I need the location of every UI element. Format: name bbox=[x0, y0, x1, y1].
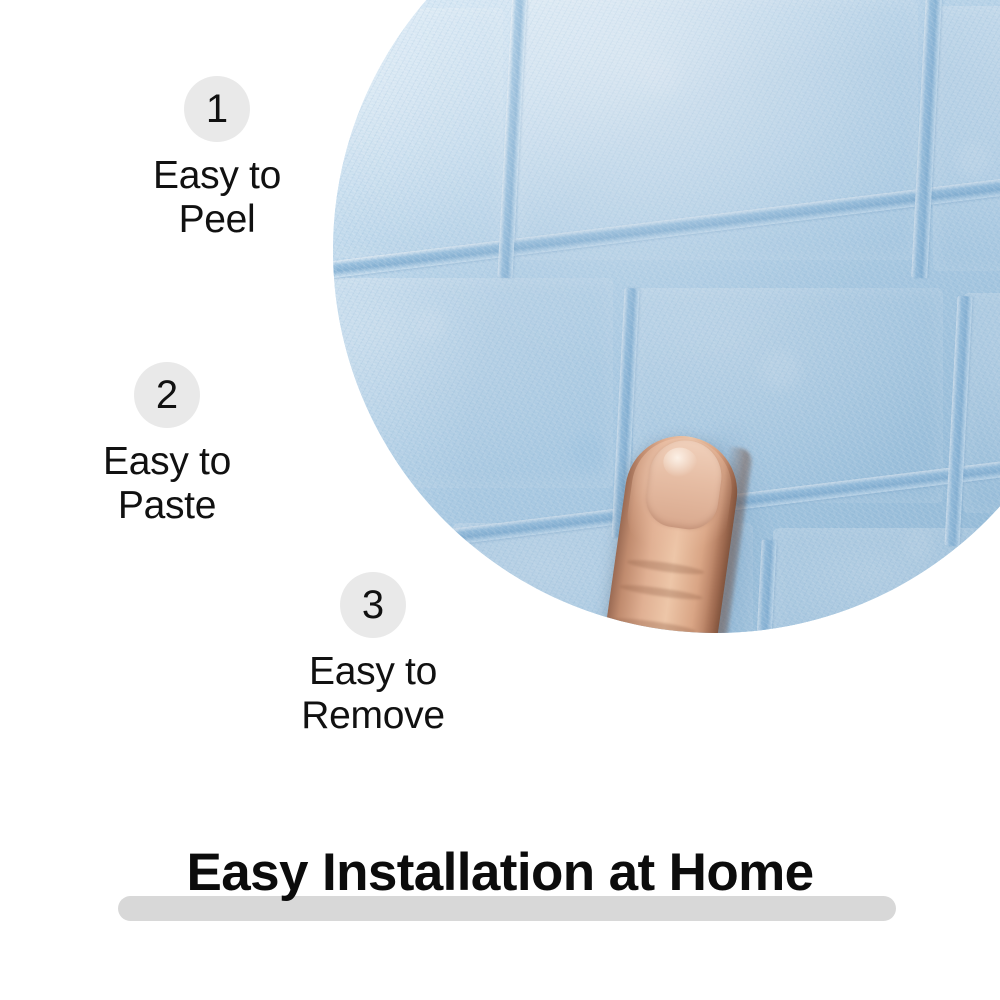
step-item-2: 2 Easy to Paste bbox=[52, 362, 282, 529]
footer-headline: Easy Installation at Home bbox=[0, 846, 1000, 899]
brick-panel-photo bbox=[333, 0, 1000, 633]
step-number-badge-1: 1 bbox=[184, 76, 250, 142]
step-item-1: 1 Easy to Peel bbox=[102, 76, 332, 243]
step-label-1: Easy to Peel bbox=[102, 154, 332, 243]
step-label-3: Easy to Remove bbox=[258, 650, 488, 739]
step-number-badge-2: 2 bbox=[134, 362, 200, 428]
product-infographic: 1 Easy to Peel 2 Easy to Paste 3 Easy to… bbox=[0, 0, 1000, 1000]
step-label-2: Easy to Paste bbox=[52, 440, 282, 529]
product-photo-circle bbox=[333, 0, 1000, 633]
step-item-3: 3 Easy to Remove bbox=[258, 572, 488, 739]
step-number-badge-3: 3 bbox=[340, 572, 406, 638]
